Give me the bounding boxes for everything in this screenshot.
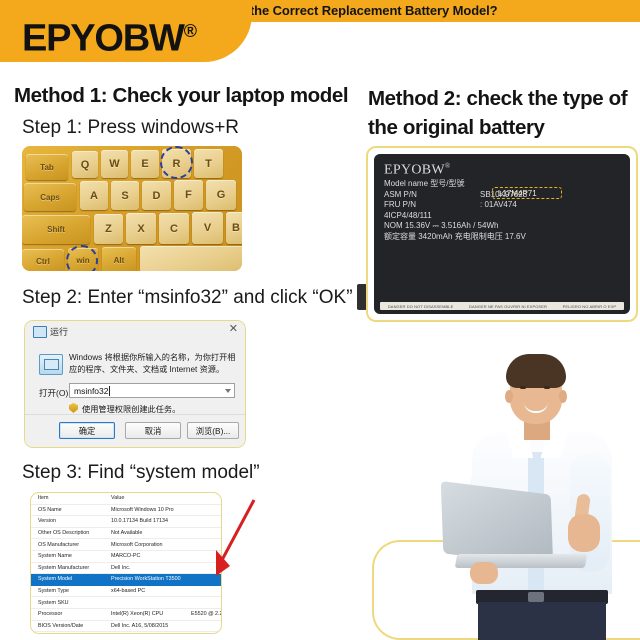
table-cell-item: System SKU (31, 600, 109, 606)
brand-name-text: EPYOBW (22, 18, 184, 60)
chevron-down-icon[interactable] (225, 389, 231, 393)
table-row[interactable]: BIOS Version/DateDell Inc. A16, 5/08/201… (31, 621, 221, 633)
key-shift: Shift (22, 215, 90, 244)
person-eye-left (520, 386, 526, 389)
table-cell-item: Item (31, 495, 109, 501)
run-window-icon (33, 326, 47, 338)
table-row-selected[interactable]: System ModelPrecision WorkStation T3500 (31, 574, 221, 586)
person-right-hand (568, 514, 600, 552)
key-s: S (111, 181, 139, 210)
battery-fru-row: FRU P/N: 01AV474 (384, 200, 630, 211)
cancel-button[interactable]: 取消 (125, 422, 181, 439)
key-q: Q (72, 151, 98, 178)
registered-trademark-icon: ® (184, 21, 197, 41)
key-t: T (194, 149, 223, 178)
table-cell-value: Microsoft Windows 10 Pro (109, 507, 221, 513)
key-x: X (126, 213, 156, 244)
brand-name: EPYOBW® (22, 12, 197, 58)
key-v: V (192, 212, 223, 244)
table-row[interactable]: ItemValue (31, 493, 221, 505)
battery-label-photo-frame: EPYOBW® Model name 型号/型號 ASM P/NSB10K976… (366, 146, 638, 322)
battery-nominal: NOM 15.36V ⎓ 3.516Ah / 54Wh (384, 221, 630, 232)
battery-warning-strip: DANGER DO NOT DISASSEMBLE DANGER NE PAS … (380, 302, 624, 310)
battery-brand-text: EPYOBW (384, 163, 445, 178)
method-1-title: Method 1: Check your laptop model (14, 84, 348, 108)
close-icon[interactable]: ✕ (229, 324, 238, 335)
dialog-titlebar: 运行 ✕ (25, 321, 245, 342)
person-ear-right (559, 390, 567, 403)
warning-text-en: DANGER DO NOT DISASSEMBLE (388, 304, 454, 309)
person-belt-buckle (528, 592, 544, 602)
table-cell-value: Dell Inc. (109, 565, 221, 571)
dialog-description: Windows 将根据你所输入的名称，为你打开相应的程序、文件夹、文档或 Int… (69, 352, 237, 375)
table-row[interactable]: OS ManufacturerMicrosoft Corporation (31, 539, 221, 551)
key-capslock: Caps (24, 183, 76, 211)
open-field-label: 打开(O): (39, 387, 71, 399)
person-photo (398, 348, 640, 640)
key-b: B (226, 212, 242, 244)
highlight-circle-windows-key (66, 245, 98, 271)
table-cell-value: x64-based PC (109, 588, 221, 594)
key-z: Z (94, 214, 123, 244)
step-3-label: Step 3: Find “system model” (22, 462, 260, 484)
battery-fru-label: FRU P/N (384, 200, 480, 211)
battery-model-value: L17M4P71 (498, 189, 537, 198)
system-information-table[interactable]: ItemValueOS NameMicrosoft Windows 10 Pro… (30, 492, 222, 634)
table-row[interactable]: OS NameMicrosoft Windows 10 Pro (31, 505, 221, 517)
key-alt: Alt (102, 247, 136, 271)
table-cell-item: BIOS Version/Date (31, 623, 109, 629)
battery-rated: 额定容量 3420mAh 充电限制电压 17.6V (384, 232, 630, 243)
table-cell-value: MARCO-PC (109, 553, 221, 559)
person-ear-left (505, 390, 513, 403)
warning-text-es: PELIGRO NO ABRIR O EXP (563, 304, 617, 309)
person-left-hand (470, 562, 498, 584)
highlight-circle-r-key (160, 146, 193, 179)
step-2-label: Step 2: Enter “msinfo32” and click “OK” (22, 287, 353, 309)
browse-button[interactable]: 浏览(B)... (187, 422, 239, 439)
battery-label: EPYOBW® Model name 型号/型號 ASM P/NSB10K976… (374, 154, 630, 314)
key-d: D (142, 181, 171, 210)
table-row[interactable]: System ManufacturerDell Inc. (31, 563, 221, 575)
key-ctrl: Ctrl (22, 249, 64, 271)
table-row[interactable]: Other OS DescriptionNot Available (31, 528, 221, 540)
key-e: E (131, 150, 159, 178)
table-cell-value: Dell Inc. A16, 5/08/2015 (109, 623, 221, 629)
key-c: C (159, 213, 189, 244)
person-pants (478, 602, 606, 640)
table-row[interactable]: System Typex64-based PC (31, 586, 221, 598)
table-cell-value: Value (109, 495, 221, 501)
key-space (140, 246, 242, 271)
battery-fru-value: : 01AV474 (480, 200, 517, 209)
dialog-title: 运行 (50, 325, 68, 338)
table-cell-value: Not Available (109, 530, 221, 536)
table-row[interactable]: System NameMARCO-PC (31, 551, 221, 563)
key-g: G (206, 180, 236, 210)
table-cell-value: Microsoft Corporation (109, 542, 221, 548)
method-2-title: Method 2: check the type of the original… (368, 84, 640, 142)
battery-brand: EPYOBW® (384, 162, 451, 179)
run-dialog[interactable]: 运行 ✕ Windows 将根据你所输入的名称，为你打开相应的程序、文件夹、文档… (24, 320, 246, 448)
table-row[interactable]: SMBIOS Version2.5 (31, 632, 221, 634)
open-input-value: msinfo32 (74, 386, 109, 396)
table-row[interactable]: ProcessorIntel(R) Xeon(R) CPUE5520 @ 2.2… (31, 609, 221, 621)
key-a: A (80, 181, 108, 210)
battery-model-label: Model name 型号/型號 (384, 179, 480, 190)
text-caret (109, 386, 110, 396)
table-cell-item: OS Name (31, 507, 109, 513)
table-cell-item: System Type (31, 588, 109, 594)
person-hair (506, 354, 566, 388)
table-cell-value: Precision WorkStation T3500 (109, 576, 221, 582)
table-cell-item: Version (31, 518, 109, 524)
battery-cell-code: 4ICP4/48/111 (384, 211, 630, 222)
table-cell-value: 10.0.17134 Build 17134 (109, 518, 221, 524)
battery-registered-icon: ® (445, 162, 451, 170)
table-cell-item: OS Manufacturer (31, 542, 109, 548)
table-row[interactable]: Version10.0.17134 Build 17134 (31, 516, 221, 528)
battery-asm-label: ASM P/N (384, 190, 480, 201)
key-w: W (101, 150, 128, 178)
shield-icon (69, 403, 78, 413)
table-cell-item: System Model (31, 576, 109, 582)
table-body: ItemValueOS NameMicrosoft Windows 10 Pro… (31, 493, 221, 634)
table-cell-item: Other OS Description (31, 530, 109, 536)
warning-text-fr: DANGER NE PAS OUVRIR NI EXPOSER (469, 304, 547, 309)
brand-logo-block: EPYOBW® (0, 0, 252, 62)
key-tab: Tab (26, 154, 68, 180)
table-cell-item: System Manufacturer (31, 565, 109, 571)
table-cell-item: Processor (31, 611, 109, 617)
keyboard-photo: Tab Q W E R T Caps A S D F G Shift Z X C… (22, 146, 242, 271)
step-1-label: Step 1: Press windows+R (22, 117, 239, 139)
table-cell-value-extra: E5520 @ 2.27GHz, 2261 Mhz, ... (191, 611, 222, 617)
table-row[interactable]: System SKU (31, 597, 221, 609)
person-eye-right (544, 386, 550, 389)
dialog-button-row: 确定 取消 浏览(B)... (25, 414, 245, 447)
ok-button[interactable]: 确定 (59, 422, 115, 439)
key-f: F (174, 180, 203, 210)
run-app-icon (39, 354, 63, 375)
open-input[interactable]: msinfo32 (69, 383, 235, 398)
table-cell-item: System Name (31, 553, 109, 559)
